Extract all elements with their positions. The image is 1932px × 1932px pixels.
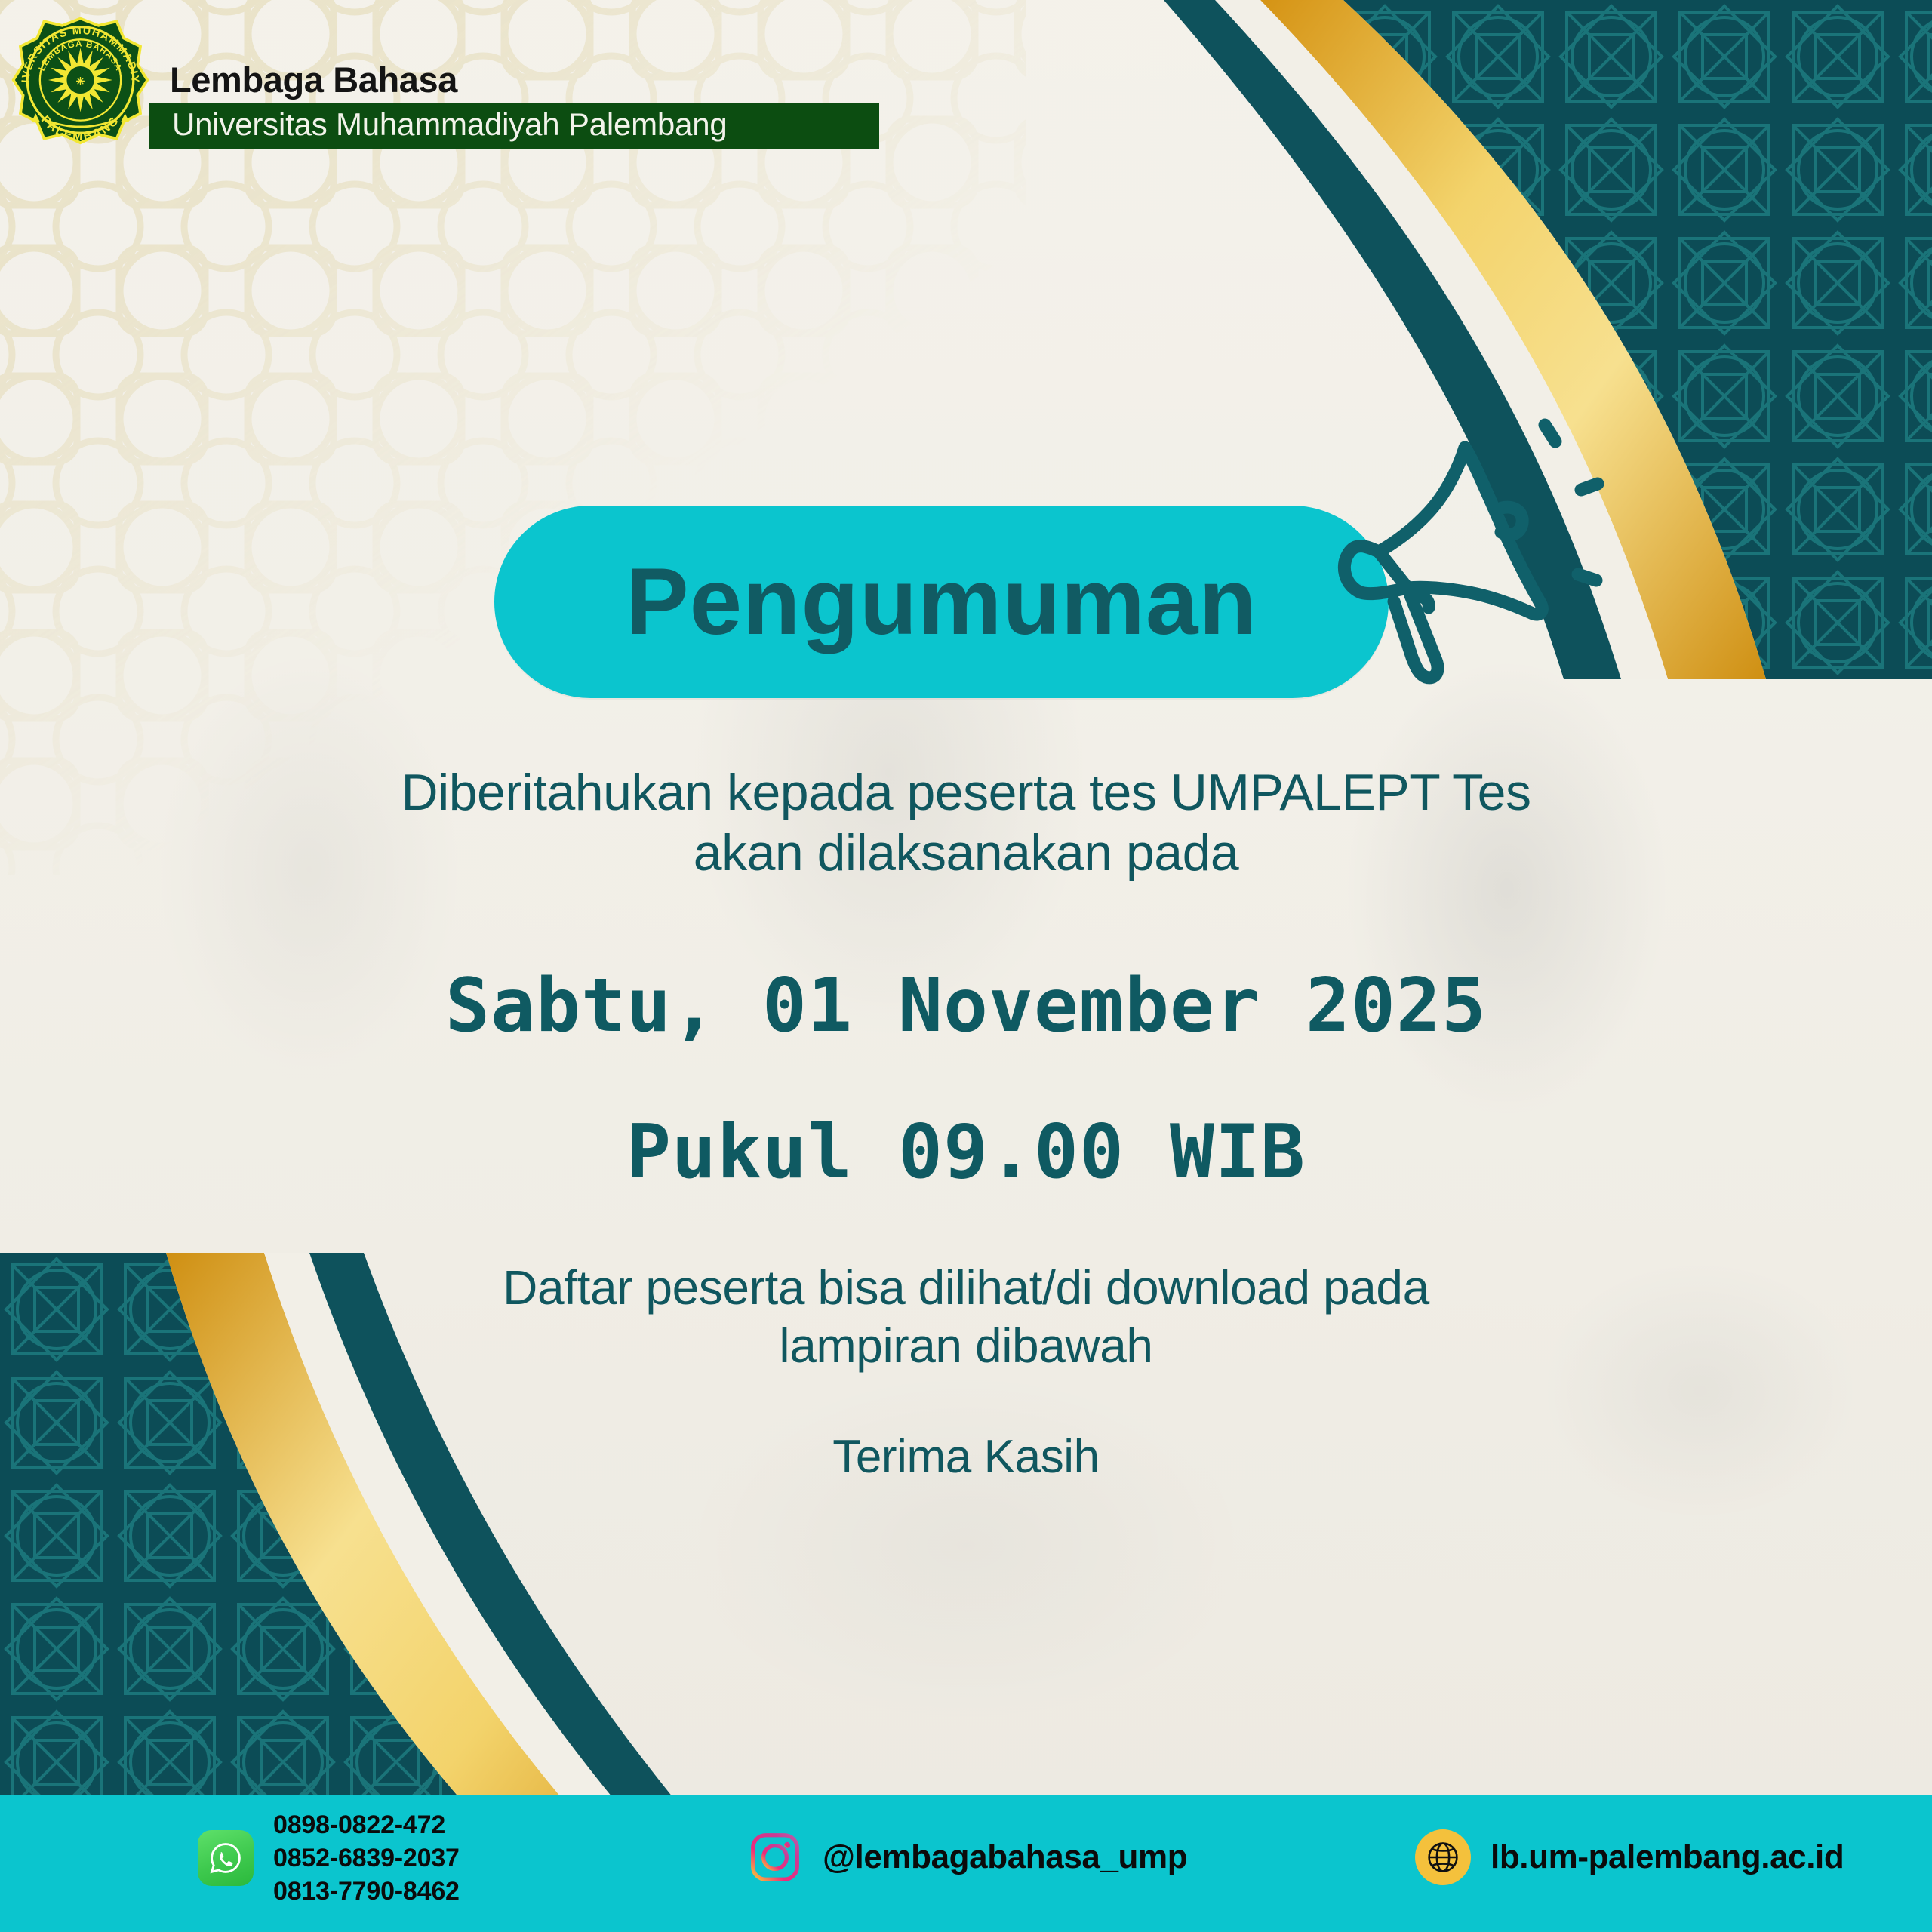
poster-header: ✳ UNIVERSITAS MUHAMMADIYAH LEMBAGA BAHAS… xyxy=(0,0,898,174)
announcement-body: Diberitahukan kepada peserta tes UMPALEP… xyxy=(136,762,1796,1485)
university-seal-icon: ✳ UNIVERSITAS MUHAMMADIYAH LEMBAGA BAHAS… xyxy=(11,14,150,165)
institution-line1: Lembaga Bahasa xyxy=(170,62,887,97)
announcement-badge: Pengumuman xyxy=(494,506,1389,698)
intro-line2: akan dilaksanakan pada xyxy=(694,824,1238,881)
megaphone-icon xyxy=(1332,411,1634,713)
institution-line2: Universitas Muhammadiyah Palembang xyxy=(172,109,728,140)
globe-icon xyxy=(1415,1829,1471,1885)
instagram-icon xyxy=(747,1829,803,1885)
instagram-contact[interactable]: @lembagabahasa_ump xyxy=(747,1829,1187,1885)
institution-name-block: Lembaga Bahasa xyxy=(170,62,887,102)
announcement-badge-label: Pengumuman xyxy=(626,555,1257,649)
phone-list: 0898-0822-472 0852-6839-2037 0813-7790-8… xyxy=(273,1810,460,1906)
note-line1: Daftar peserta bisa dilihat/di download … xyxy=(503,1260,1429,1315)
website-url[interactable]: lb.um-palembang.ac.id xyxy=(1491,1838,1844,1876)
intro-paragraph: Diberitahukan kepada peserta tes UMPALEP… xyxy=(136,762,1796,883)
svg-text:✳: ✳ xyxy=(76,75,85,87)
note-line2: lampiran dibawah xyxy=(779,1318,1152,1373)
thanks-text: Terima Kasih xyxy=(136,1429,1796,1485)
whatsapp-contact[interactable]: 0898-0822-472 0852-6839-2037 0813-7790-8… xyxy=(198,1810,460,1906)
attachment-note: Daftar peserta bisa dilihat/di download … xyxy=(136,1259,1796,1375)
event-date: Sabtu, 01 November 2025 xyxy=(136,966,1796,1048)
website-contact[interactable]: lb.um-palembang.ac.id xyxy=(1415,1829,1844,1885)
poster-footer: 0898-0822-472 0852-6839-2037 0813-7790-8… xyxy=(0,1795,1932,1932)
phone-number[interactable]: 0813-7790-8462 xyxy=(273,1876,460,1906)
whatsapp-icon xyxy=(198,1830,254,1886)
phone-number[interactable]: 0898-0822-472 xyxy=(273,1810,460,1840)
event-time: Pukul 09.00 WIB xyxy=(136,1112,1796,1194)
phone-number[interactable]: 0852-6839-2037 xyxy=(273,1843,460,1873)
announcement-poster: ✳ UNIVERSITAS MUHAMMADIYAH LEMBAGA BAHAS… xyxy=(0,0,1932,1932)
intro-line1: Diberitahukan kepada peserta tes UMPALEP… xyxy=(401,764,1531,821)
instagram-handle[interactable]: @lembagabahasa_ump xyxy=(823,1838,1187,1876)
